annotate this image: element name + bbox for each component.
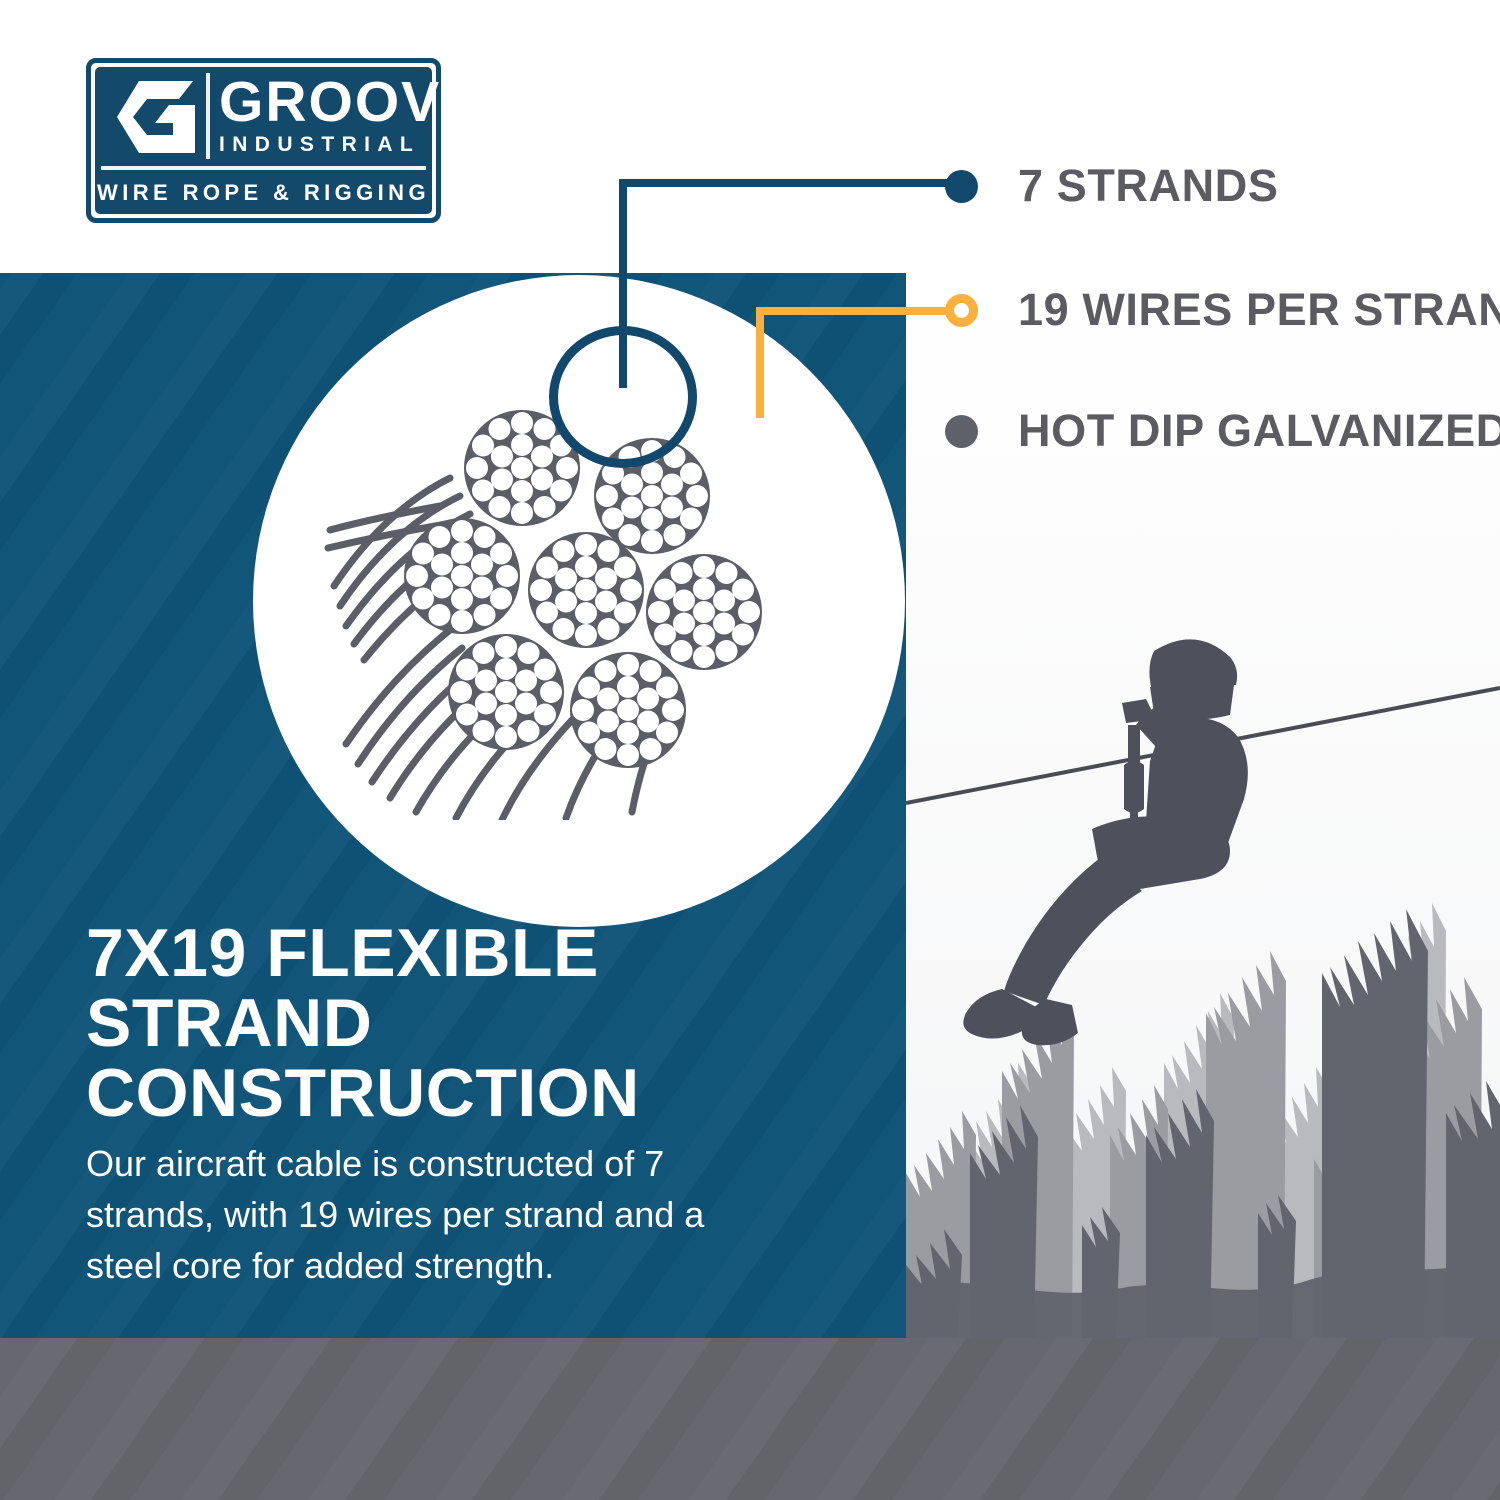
- callout-dot-amber-icon: [945, 294, 978, 327]
- infographic-canvas: 7 STRANDS 19 WIRES PER STRAND HOT DIP GA…: [0, 0, 1500, 1500]
- callout-label-wires: 19 WIRES PER STRAND: [1018, 287, 1500, 333]
- logo-rule: [101, 166, 426, 170]
- callout-galvanized[interactable]: HOT DIP GALVANIZED: [945, 408, 1500, 454]
- body-paragraph: Our aircraft cable is constructed of 7 s…: [86, 1138, 786, 1291]
- callout-dot-gray-icon: [945, 415, 978, 448]
- callout-label-strands: 7 STRANDS: [1018, 163, 1278, 209]
- bottom-gray-band: [0, 1338, 1500, 1500]
- logo-name-line-2: INDUSTRIAL: [219, 133, 424, 157]
- logo-divider: [206, 73, 210, 159]
- page-title: 7X19 FLEXIBLE STRAND CONSTRUCTION: [86, 918, 876, 1128]
- logo-name-line-1: GROOVE: [219, 73, 424, 131]
- groove-g-icon: [117, 81, 199, 153]
- logo-tagline: WIRE ROPE & RIGGING: [101, 173, 426, 213]
- magnifier-circle: [549, 326, 697, 468]
- strand-cluster: [404, 410, 762, 768]
- callout-dot-navy-icon: [945, 170, 978, 203]
- callout-wires-per-strand[interactable]: 19 WIRES PER STRAND: [945, 287, 1500, 333]
- callout-label-galvanized: HOT DIP GALVANIZED: [1018, 408, 1500, 454]
- callout-strands[interactable]: 7 STRANDS: [945, 163, 1278, 209]
- band-stripe-texture: [0, 1338, 1500, 1500]
- headline-line-2: STRAND CONSTRUCTION: [86, 988, 876, 1128]
- logo-inner-plate: GROOVE INDUSTRIAL WIRE ROPE & RIGGING: [95, 67, 432, 214]
- headline-line-1: 7X19 FLEXIBLE: [86, 918, 876, 988]
- logo-wordmark: GROOVE INDUSTRIAL: [219, 73, 424, 157]
- brand-logo[interactable]: GROOVE INDUSTRIAL WIRE ROPE & RIGGING: [86, 58, 441, 223]
- logo-top-row: GROOVE INDUSTRIAL: [95, 67, 432, 165]
